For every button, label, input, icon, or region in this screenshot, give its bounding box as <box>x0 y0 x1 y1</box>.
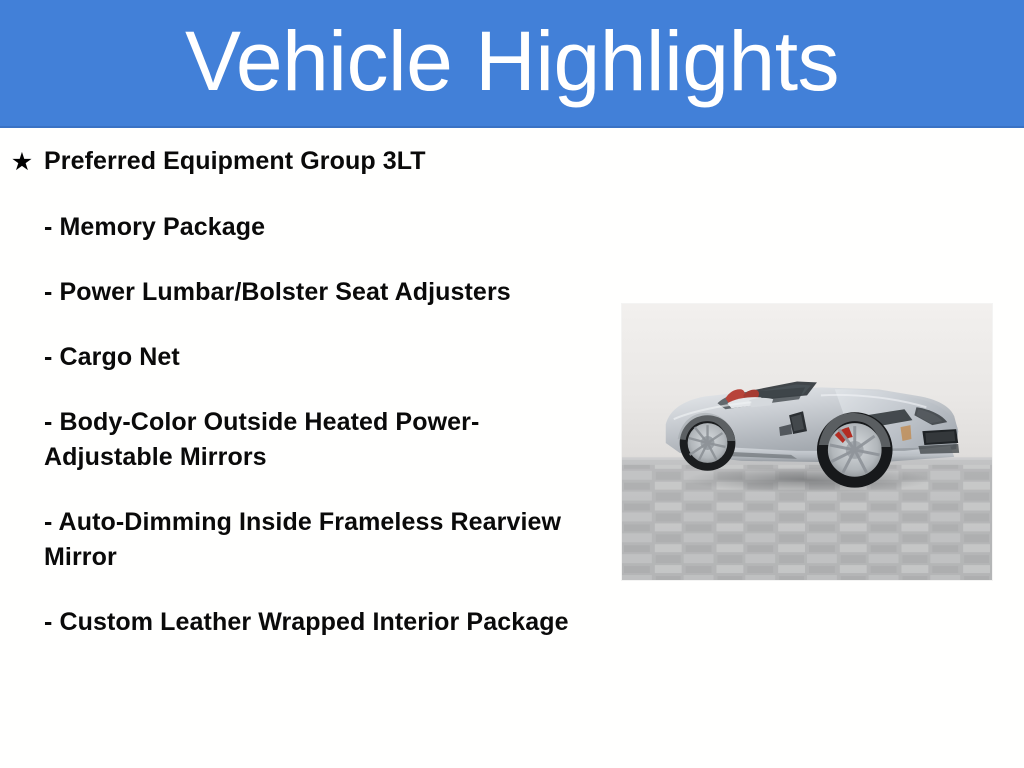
header-banner: Vehicle Highlights <box>0 0 1024 128</box>
list-item: - Cargo Net <box>0 310 600 375</box>
highlight-text: - Power Lumbar/Bolster Seat Adjusters <box>44 245 600 310</box>
list-item: - Auto-Dimming Inside Frameless Rearview… <box>0 475 600 575</box>
content-area: ★ Preferred Equipment Group 3LT - Memory… <box>0 128 1024 768</box>
vehicle-photo-image <box>622 304 992 580</box>
list-item: ★ Preferred Equipment Group 3LT <box>0 128 600 180</box>
vehicle-photo <box>621 303 993 581</box>
highlight-text: - Memory Package <box>44 180 600 245</box>
list-item: - Custom Leather Wrapped Interior Packag… <box>0 575 600 640</box>
highlight-text: - Custom Leather Wrapped Interior Packag… <box>44 575 600 640</box>
star-bullet-icon: ★ <box>0 128 44 180</box>
list-item: - Body-Color Outside Heated Power-Adjust… <box>0 375 600 475</box>
page-title: Vehicle Highlights <box>185 19 839 107</box>
highlight-text: - Body-Color Outside Heated Power-Adjust… <box>44 375 600 475</box>
highlight-text: Preferred Equipment Group 3LT <box>44 128 600 179</box>
list-item: - Power Lumbar/Bolster Seat Adjusters <box>0 245 600 310</box>
highlight-text: - Auto-Dimming Inside Frameless Rearview… <box>44 475 600 575</box>
list-item: - Memory Package <box>0 180 600 245</box>
slide-root: Vehicle Highlights ★ Preferred Equipment… <box>0 0 1024 768</box>
vehicle-highlights-list: ★ Preferred Equipment Group 3LT - Memory… <box>0 128 600 640</box>
highlight-text: - Cargo Net <box>44 310 600 375</box>
